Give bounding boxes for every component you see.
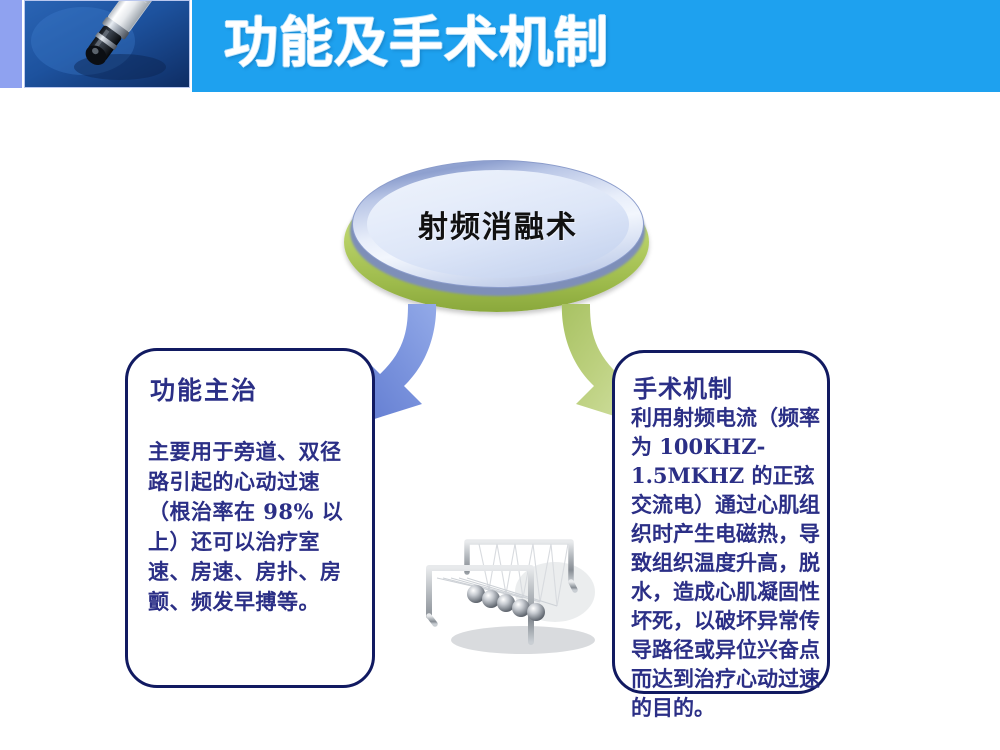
header-photo [24, 0, 190, 88]
central-node: 射频消融术 [330, 148, 670, 323]
page-title: 功能及手术机制 [224, 4, 609, 80]
newtons-cradle-icon [405, 520, 615, 660]
header-left-strip [0, 0, 22, 88]
panel-functions-heading: 功能主治 [150, 371, 258, 407]
central-node-label: 射频消融术 [352, 160, 644, 288]
catheter-electrode-icon [25, 1, 190, 88]
panel-functions-body: 主要用于旁道、双径路引起的心动过速（根治率在 98% 以上）还可以治疗室速、房速… [148, 437, 360, 617]
panel-mechanism-body: 利用射频电流（频率为 100KHZ-1.5MKHZ 的正弦交流电）通过心肌组织时… [631, 403, 823, 722]
panel-mechanism-heading: 手术机制 [633, 369, 733, 404]
panel-mechanism[interactable]: 手术机制 利用射频电流（频率为 100KHZ-1.5MKHZ 的正弦交流电）通过… [612, 350, 830, 694]
slide-header: 功能及手术机制 [0, 0, 1000, 92]
panel-functions[interactable]: 功能主治 主要用于旁道、双径路引起的心动过速（根治率在 98% 以上）还可以治疗… [125, 348, 375, 688]
